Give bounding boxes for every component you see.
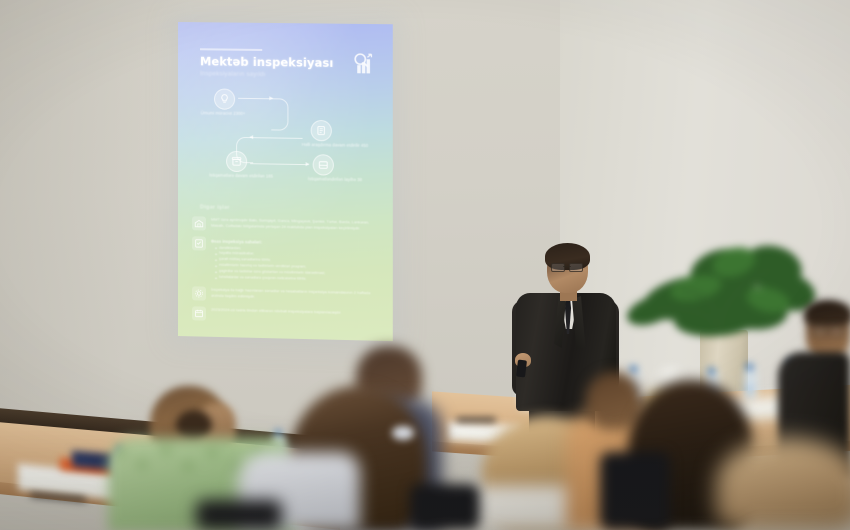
slide-section-label: Digər işlər (200, 204, 230, 211)
flow-node-4 (313, 154, 334, 175)
pen-center (456, 418, 496, 422)
flow-node-2 (311, 120, 332, 141)
attendee-8-hair (716, 438, 850, 530)
flow-node-3 (226, 151, 247, 172)
flow-arrow-2 (250, 137, 302, 139)
slide-title-rule (200, 48, 262, 51)
projection-screen: Mektəb inspeksiyası İnspeksiyaların sayı… (178, 22, 393, 341)
slide-body-row-note2: 2023/2024-cü tədris ilindən etibarən növ… (192, 307, 384, 325)
chair-1 (600, 452, 670, 530)
flow-arrow-1 (238, 98, 272, 99)
gear-icon (192, 287, 206, 301)
slide-note-1: İnspeksiya ilə bağlı hazırlanan sənədlər… (211, 287, 384, 303)
attendee-7-glasses-icon (812, 326, 850, 334)
checklist-icon (192, 236, 206, 250)
slide-paragraph: MMT üzrə ayrılmışdır Bakı, Sumqayıt, Gən… (211, 217, 384, 232)
flow-label-3: İstiqamətlərə davam etdirilən 165 (200, 172, 282, 179)
conference-room-photo: Mektəb inspeksiyası İnspeksiyaların sayı… (0, 0, 850, 530)
flow-arrow-3 (250, 163, 308, 165)
flow-label-1: Ümumi müraciət 2300+ (186, 110, 260, 117)
chair-3 (196, 500, 282, 530)
document-edit-icon (316, 125, 327, 136)
slide-flow-diagram: Ümumi müraciət 2300+ Həlli araşdırma dav… (192, 86, 382, 205)
slide-body-row-bullets: Əsas inspeksiya sahələri: dərsliklərdən;… (192, 236, 384, 285)
flow-label-4: İstiqamətləndirilən layihə 38 (292, 176, 377, 183)
flow-node-1 (214, 88, 235, 109)
slide-body-row-paragraph: MMT üzrə ayrılmışdır Bakı, Sumqayıt, Gən… (192, 216, 384, 234)
slide-body-row-note1: İnspeksiya ilə bağlı hazırlanan sənədlər… (192, 287, 384, 305)
water-bottle-4 (744, 364, 755, 400)
slide-note-2: 2023/2024-cü tədris ilindən etibarən növ… (211, 307, 384, 317)
school-building-icon (192, 216, 206, 230)
eyeglasses-icon (551, 263, 583, 270)
slide-title: Mektəb inspeksiyası (200, 54, 351, 70)
slide-subtitle: İnspeksiyaların sayıldı (200, 70, 351, 79)
attendee-3-hair-tie (392, 426, 414, 440)
flow-label-2: Həlli araşdırma davam etdirilir 450 (292, 142, 377, 149)
attendee-7-hair (804, 300, 850, 326)
inbox-icon (318, 159, 329, 170)
flow-curve-1 (271, 98, 288, 130)
calendar-icon (192, 307, 206, 321)
slide-body-block: MMT üzrə ayrılmışdır Bakı, Sumqayıt, Gən… (192, 216, 384, 331)
slide-bullet-list: dərsliklərdən; həyatla münasibətlər; şər… (211, 245, 384, 285)
lightbulb-icon (219, 94, 230, 105)
potted-plant (622, 222, 822, 352)
chair-2 (410, 484, 480, 530)
attendee-1-hair-bun (176, 410, 212, 440)
magnifier-bar-chart-icon (352, 52, 378, 77)
archive-box-icon (231, 156, 242, 167)
